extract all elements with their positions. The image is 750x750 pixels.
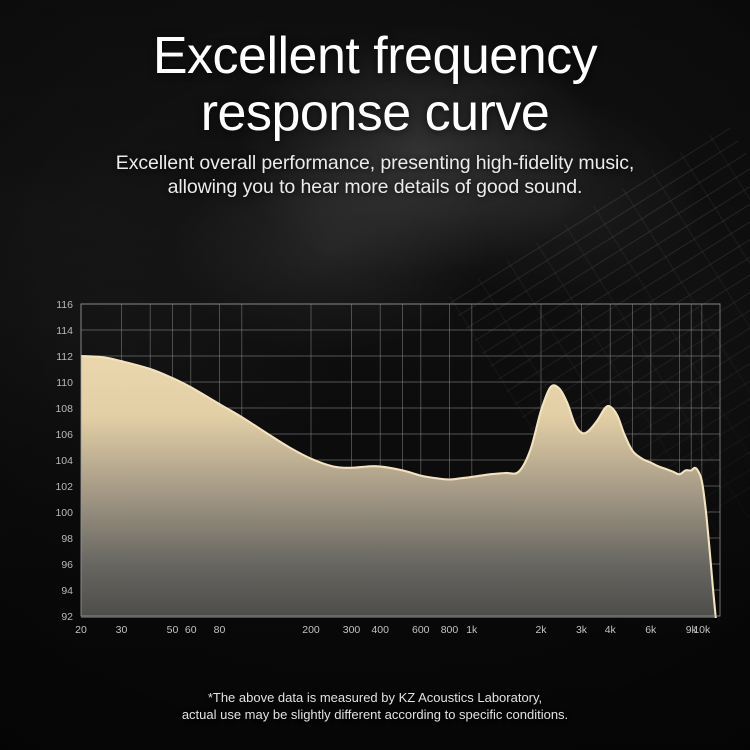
x-axis-labels: 20305060802003004006008001k2k3k4k6k9k10k [75,624,711,636]
chart-area-fill [81,356,717,656]
x-axis-tick-label: 30 [116,624,128,636]
y-axis-tick-label: 100 [55,507,73,519]
x-axis-tick-label: 2k [535,624,547,636]
x-axis-tick-label: 6k [645,624,657,636]
frequency-response-chart: 11611411211010810610410210098969492 2030… [0,0,750,750]
x-axis-tick-label: 80 [214,624,226,636]
x-axis-tick-label: 200 [302,624,320,636]
x-axis-tick-label: 3k [576,624,588,636]
y-axis-tick-label: 112 [56,351,73,363]
x-axis-tick-label: 1k [466,624,478,636]
y-axis-tick-label: 102 [55,481,73,493]
y-axis-tick-label: 98 [61,533,73,545]
y-axis-tick-label: 110 [56,377,73,389]
x-axis-tick-label: 10k [693,624,711,636]
footnote: *The above data is measured by KZ Acoust… [0,690,750,723]
y-axis-tick-label: 116 [56,299,73,311]
y-axis-tick-label: 104 [55,455,73,467]
chart-svg: 11611411211010810610410210098969492 2030… [0,0,750,750]
y-axis-tick-label: 114 [56,325,73,337]
y-axis-labels: 11611411211010810610410210098969492 [55,299,73,623]
x-axis-tick-label: 4k [605,624,617,636]
x-axis-tick-label: 600 [412,624,430,636]
y-axis-tick-label: 106 [55,429,73,441]
frequency-response-infographic: Excellent frequency response curve Excel… [0,0,750,750]
x-axis-tick-label: 300 [343,624,361,636]
y-axis-tick-label: 108 [55,403,73,415]
x-axis-tick-label: 800 [441,624,459,636]
x-axis-tick-label: 20 [75,624,87,636]
y-axis-tick-label: 92 [61,611,73,623]
y-axis-tick-label: 96 [61,559,73,571]
y-axis-tick-label: 94 [61,585,73,597]
x-axis-tick-label: 60 [185,624,197,636]
footnote-line2: actual use may be slightly different acc… [0,707,750,724]
curve-area-fill [81,356,717,656]
x-axis-tick-label: 400 [371,624,389,636]
footnote-line1: *The above data is measured by KZ Acoust… [0,690,750,707]
x-axis-tick-label: 50 [167,624,179,636]
